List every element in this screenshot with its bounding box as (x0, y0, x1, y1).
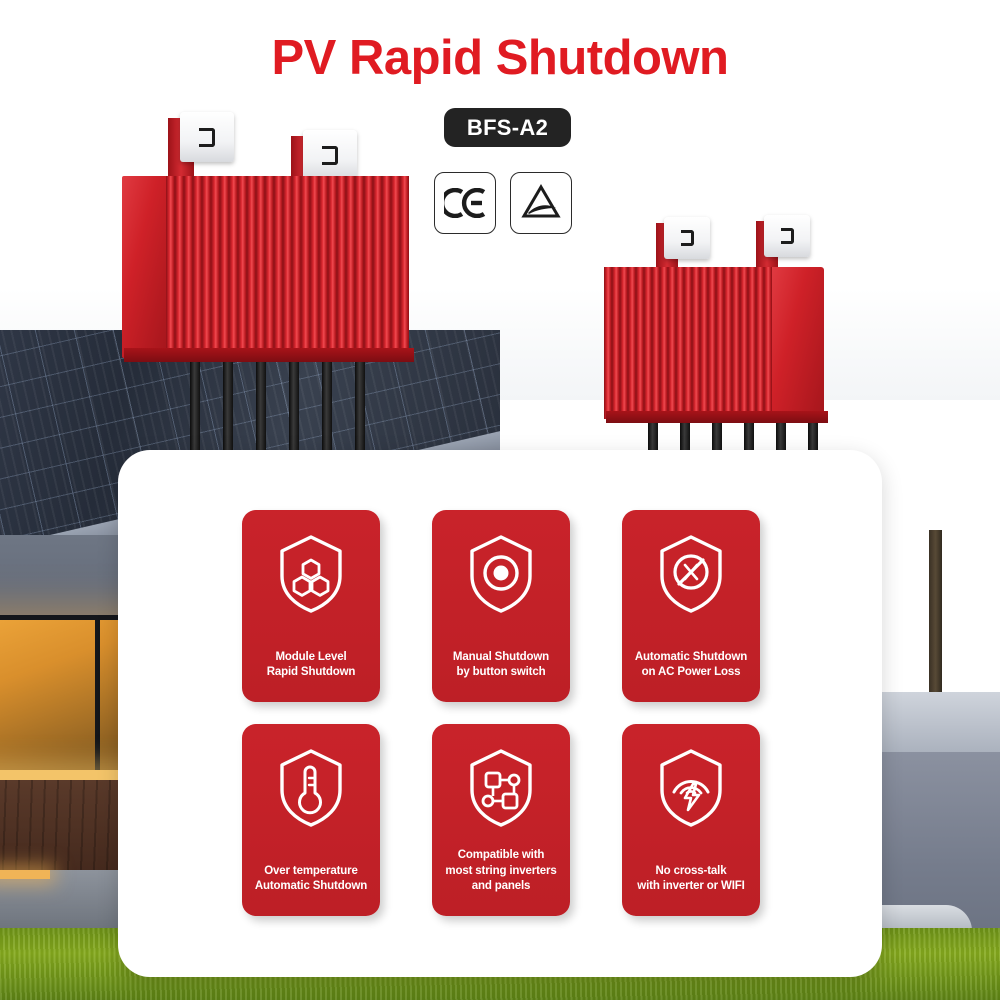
shield-network-nodes-icon (464, 746, 538, 830)
shield-hexagon-cluster-icon (274, 532, 348, 616)
heatsink-fins (604, 267, 772, 419)
product-unit-large (118, 110, 418, 450)
feature-card-no-cross-talk[interactable]: No cross-talk with inverter or WIFI (622, 724, 760, 916)
feature-card-module-level-rapid-shutdown[interactable]: Module Level Rapid Shutdown (242, 510, 380, 702)
connector-glyph-icon (781, 228, 794, 244)
feature-card-automatic-shutdown-ac-loss[interactable]: Automatic Shutdown on AC Power Loss (622, 510, 760, 702)
shield-thermometer-icon (274, 746, 348, 830)
ce-mark-icon (434, 172, 496, 234)
feature-card-label: Automatic Shutdown on AC Power Loss (630, 650, 752, 680)
connector-glyph-icon (681, 230, 694, 246)
shield-button-switch-icon (464, 532, 538, 616)
step-light (0, 870, 50, 879)
device-base (124, 348, 414, 362)
page-title: PV Rapid Shutdown (0, 30, 1000, 86)
feature-card-compatible-inverters[interactable]: Compatible with most string inverters an… (432, 724, 570, 916)
heatsink-fins (166, 176, 409, 358)
device-base (606, 411, 828, 423)
certification-marks (434, 172, 572, 234)
feature-card-label: Manual Shutdown by button switch (448, 650, 554, 680)
feature-panel: Module Level Rapid Shutdown Manual Shutd… (118, 450, 882, 977)
feature-card-manual-shutdown[interactable]: Manual Shutdown by button switch (432, 510, 570, 702)
product-unit-small (600, 215, 850, 465)
connector-glyph-icon (199, 128, 215, 147)
tree-trunk (929, 530, 942, 700)
feature-card-label: Compatible with most string inverters an… (440, 848, 561, 894)
feature-card-label: Module Level Rapid Shutdown (262, 650, 361, 680)
device-heatsink-body (604, 267, 824, 419)
feature-card-label: Over temperature Automatic Shutdown (250, 864, 372, 894)
connector-glyph-icon (322, 146, 338, 165)
shield-wifi-bolt-icon (654, 746, 728, 830)
feature-card-label: No cross-talk with inverter or WIFI (632, 864, 749, 894)
model-badge: BFS-A2 (444, 108, 571, 147)
tuv-triangle-mark-icon (510, 172, 572, 234)
device-heatsink-body (122, 176, 409, 358)
feature-card-over-temperature[interactable]: Over temperature Automatic Shutdown (242, 724, 380, 916)
feature-grid: Module Level Rapid Shutdown Manual Shutd… (242, 510, 760, 916)
shield-no-ac-power-icon (654, 532, 728, 616)
